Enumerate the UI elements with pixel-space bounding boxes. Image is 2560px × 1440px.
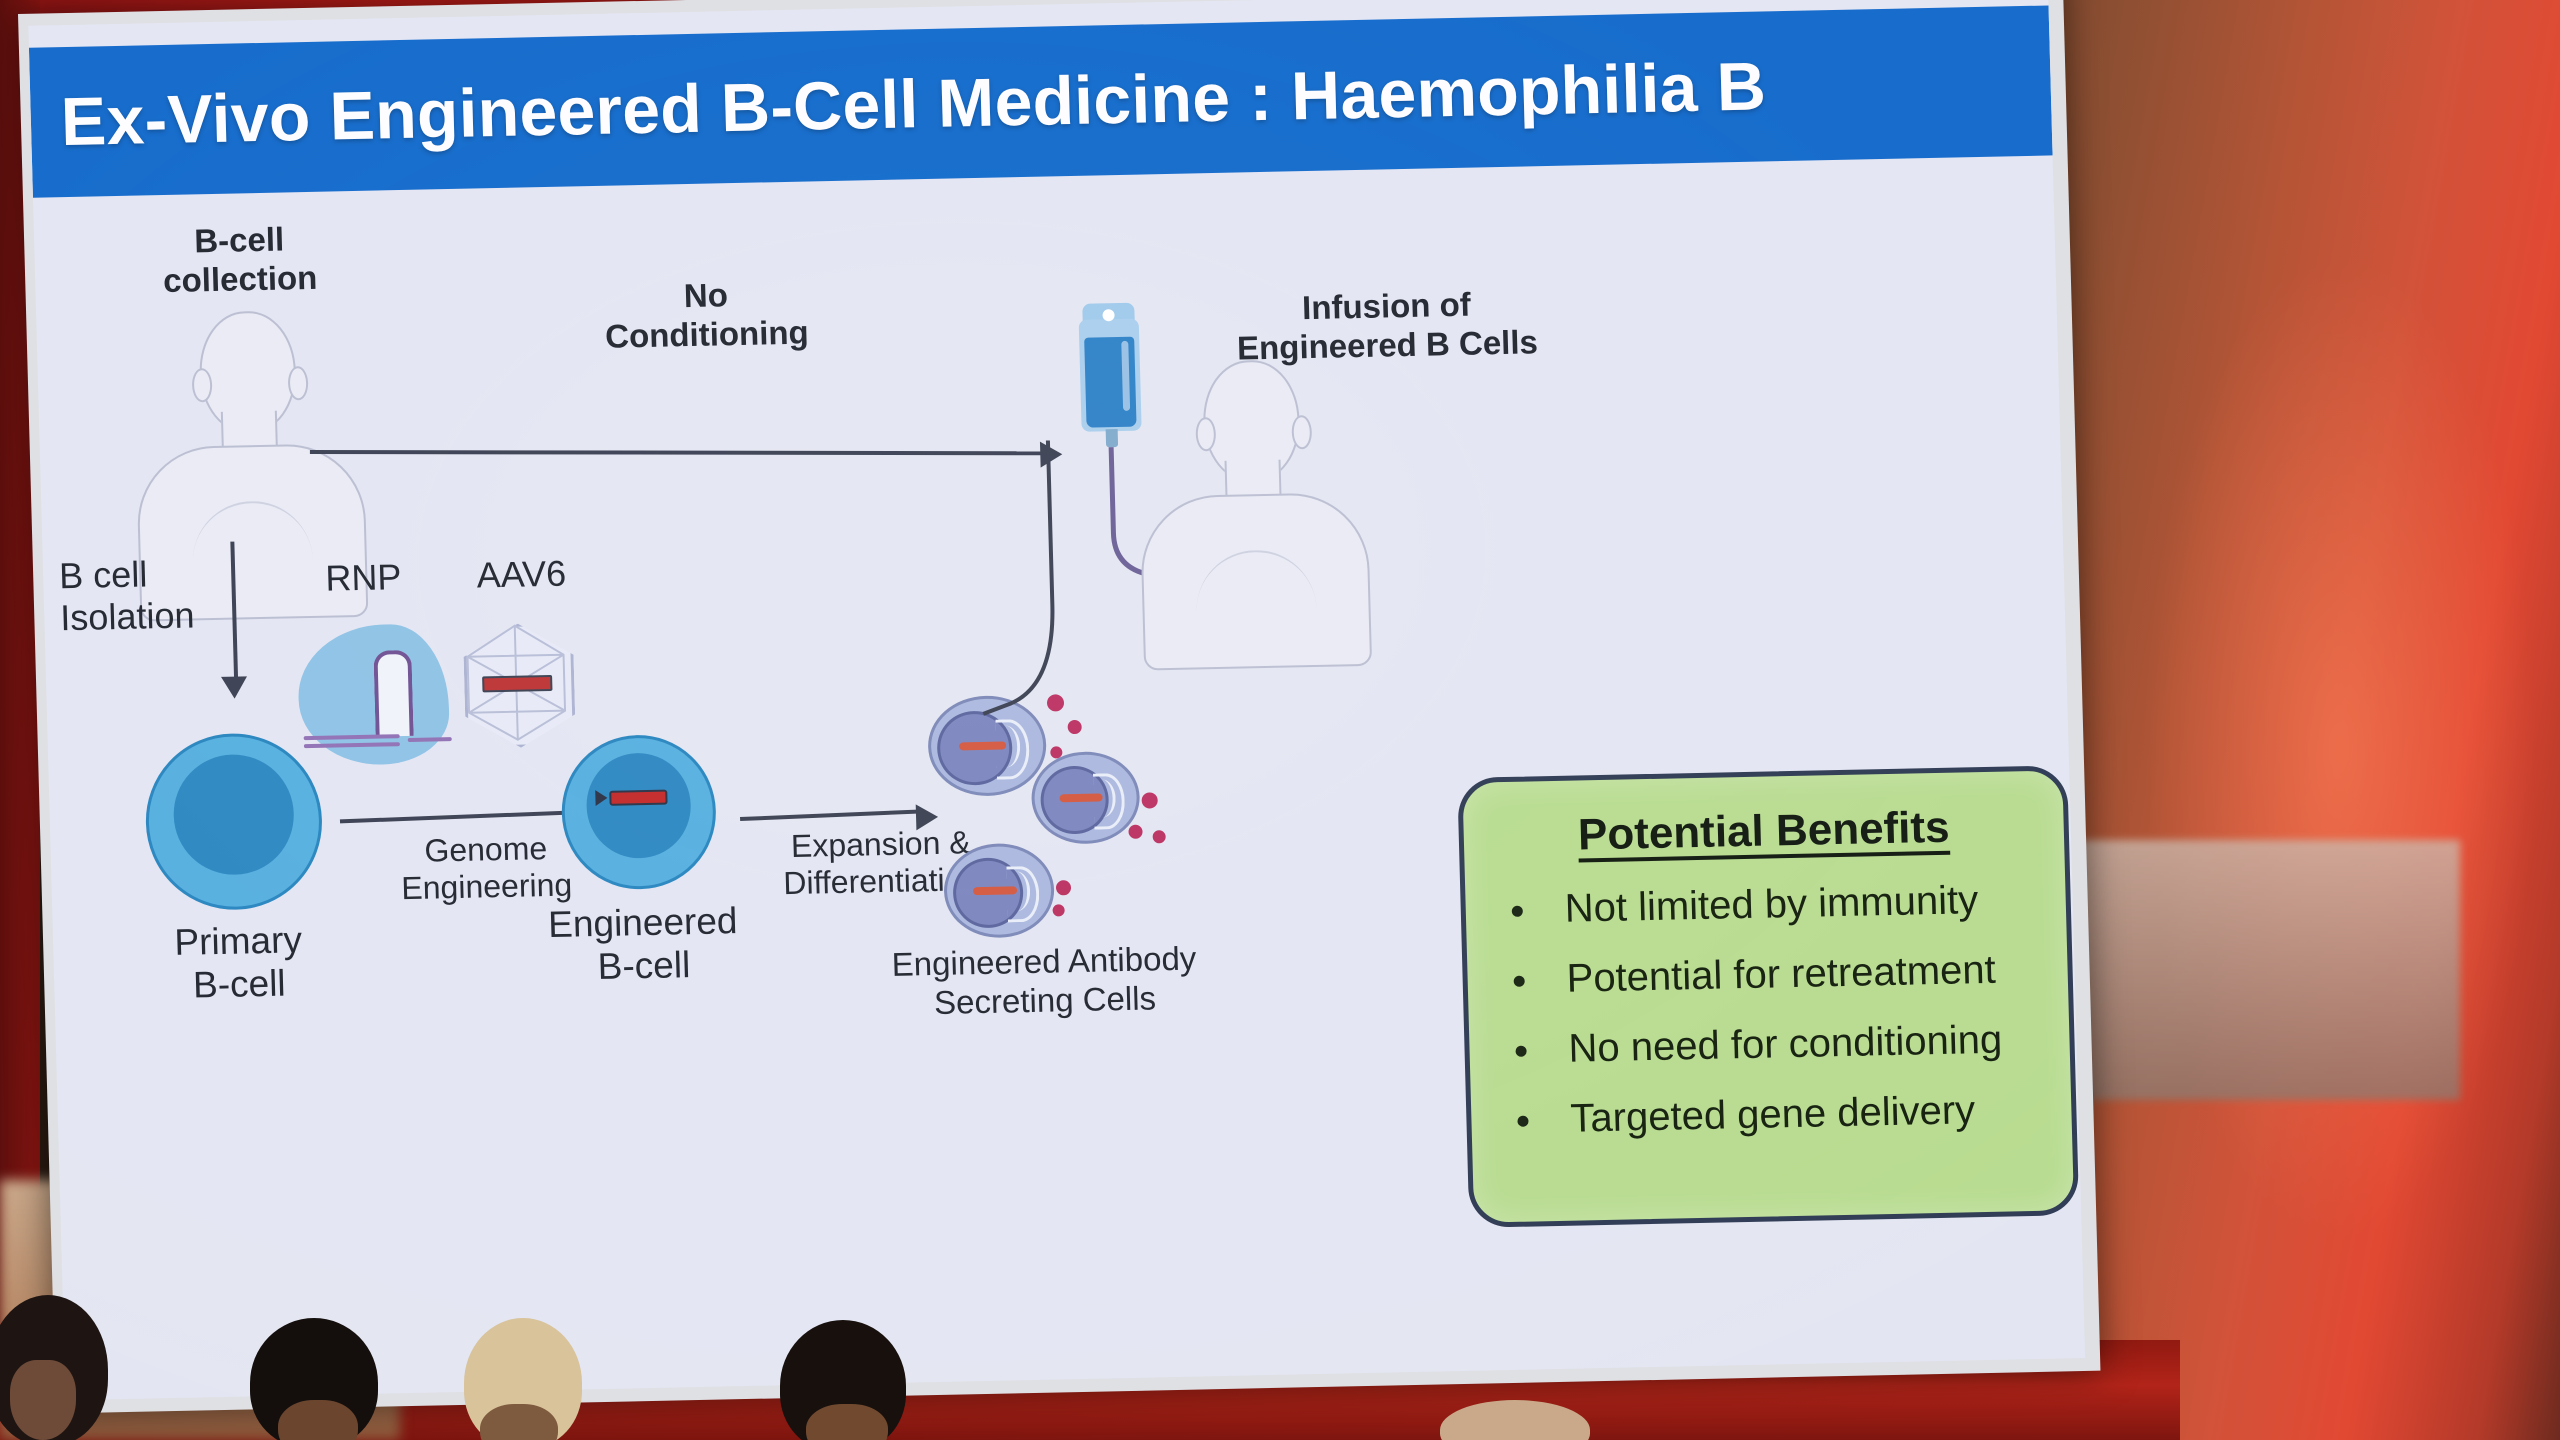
label-aav6-text: AAV6 (476, 553, 566, 596)
audience-face (480, 1404, 558, 1440)
label-bcell-isolation: B cell Isolation (43, 550, 291, 639)
secreted-antibody (1141, 792, 1157, 808)
benefit-text: Not limited by immunity (1564, 878, 1979, 931)
label-primary-bcell-line2: B-cell (134, 961, 345, 1009)
aav6-capsid-icon (463, 623, 576, 749)
photograph-of-projected-slide: Ex-Vivo Engineered B-Cell Medicine : Hae… (0, 0, 2560, 1440)
figure-ear-left (1195, 417, 1216, 451)
label-rnp-text: RNP (325, 556, 402, 599)
bullet-dot (1515, 1046, 1526, 1057)
secreted-antibody (1152, 830, 1165, 843)
slide-title-bar: Ex-Vivo Engineered B-Cell Medicine : Hae… (29, 5, 2053, 197)
recipient-patient-figure (1130, 358, 1379, 683)
asc-transgene (1060, 794, 1103, 803)
figure-ear-right (288, 366, 309, 400)
bullet-dot (1517, 1116, 1528, 1127)
asc-transgene (973, 886, 1017, 895)
benefit-item: Targeted gene delivery (1517, 1086, 2072, 1142)
label-bcell-collection-line2: collection (95, 257, 386, 302)
audience-face (806, 1404, 888, 1440)
benefit-text: Potential for retreatment (1566, 948, 1996, 1001)
arrow-expansion-line (740, 810, 920, 822)
connector-asc-to-infusion (970, 433, 1118, 726)
label-bcell-collection: B-cell collection (94, 218, 386, 301)
rnp-guide-rna-stem (373, 650, 413, 737)
potential-benefits-panel: Potential Benefits Not limited by immuni… (1457, 765, 2079, 1228)
rnp-icon (297, 617, 461, 770)
bullet-dot (1514, 976, 1525, 987)
primary-bcell-icon (144, 732, 325, 912)
label-engineered-bcell: Engineered B-cell (532, 899, 754, 990)
slide-canvas: Ex-Vivo Engineered B-Cell Medicine : Hae… (28, 0, 2085, 1400)
benefit-item: No need for conditioning (1515, 1016, 2070, 1072)
benefit-item: Not limited by immunity (1511, 876, 2066, 932)
audience-face (10, 1360, 76, 1440)
arrow-collection-to-infusion-line (310, 450, 1050, 455)
secreted-antibody (1056, 880, 1071, 895)
arrow-isolation-head (221, 676, 248, 699)
figure-ear-right (1291, 415, 1312, 449)
label-engineered-bcell-line1: Engineered (532, 899, 753, 947)
figure-ear-left (192, 368, 213, 402)
label-asc-line2: Secreting Cells (875, 978, 1216, 1024)
label-engineered-bcell-line2: B-cell (533, 942, 754, 990)
label-aav6: AAV6 (441, 552, 602, 597)
benefit-text: No need for conditioning (1568, 1018, 2003, 1071)
label-primary-bcell-line1: Primary (133, 917, 344, 965)
antibody-secreting-cell-3 (943, 842, 1056, 938)
label-infusion: Infusion of Engineered B Cells (1176, 283, 1598, 369)
label-no-conditioning-line2: Conditioning (556, 312, 857, 357)
page-title: Ex-Vivo Engineered B-Cell Medicine : Hae… (60, 47, 1767, 161)
antibody-secreting-cell-2 (1030, 751, 1140, 845)
benefit-text: Targeted gene delivery (1570, 1088, 1976, 1140)
label-bcell-collection-line1: B-cell (94, 218, 385, 263)
projection-screen: Ex-Vivo Engineered B-Cell Medicine : Hae… (18, 0, 2116, 1433)
audience-face (278, 1400, 358, 1440)
label-bcell-isolation-line2: Isolation (60, 593, 291, 640)
label-asc-line1: Engineered Antibody (874, 939, 1215, 985)
engineered-bcell-transgene (609, 790, 667, 806)
secreted-antibody (1052, 904, 1064, 916)
label-no-conditioning: No Conditioning (555, 274, 857, 357)
label-antibody-secreting-cells: Engineered Antibody Secreting Cells (874, 939, 1216, 1023)
label-bcell-isolation-line1: B cell (59, 550, 290, 597)
benefit-item: Potential for retreatment (1513, 946, 2068, 1002)
potential-benefits-heading: Potential Benefits (1463, 800, 2064, 863)
bullet-dot (1512, 906, 1523, 917)
asc-transgene (959, 741, 1006, 750)
label-primary-bcell: Primary B-cell (133, 917, 345, 1008)
aav6-transgene-cassette (482, 675, 552, 692)
rnp-dna-tail (408, 737, 452, 742)
label-rnp: RNP (293, 555, 434, 600)
label-no-conditioning-line1: No (555, 274, 856, 319)
